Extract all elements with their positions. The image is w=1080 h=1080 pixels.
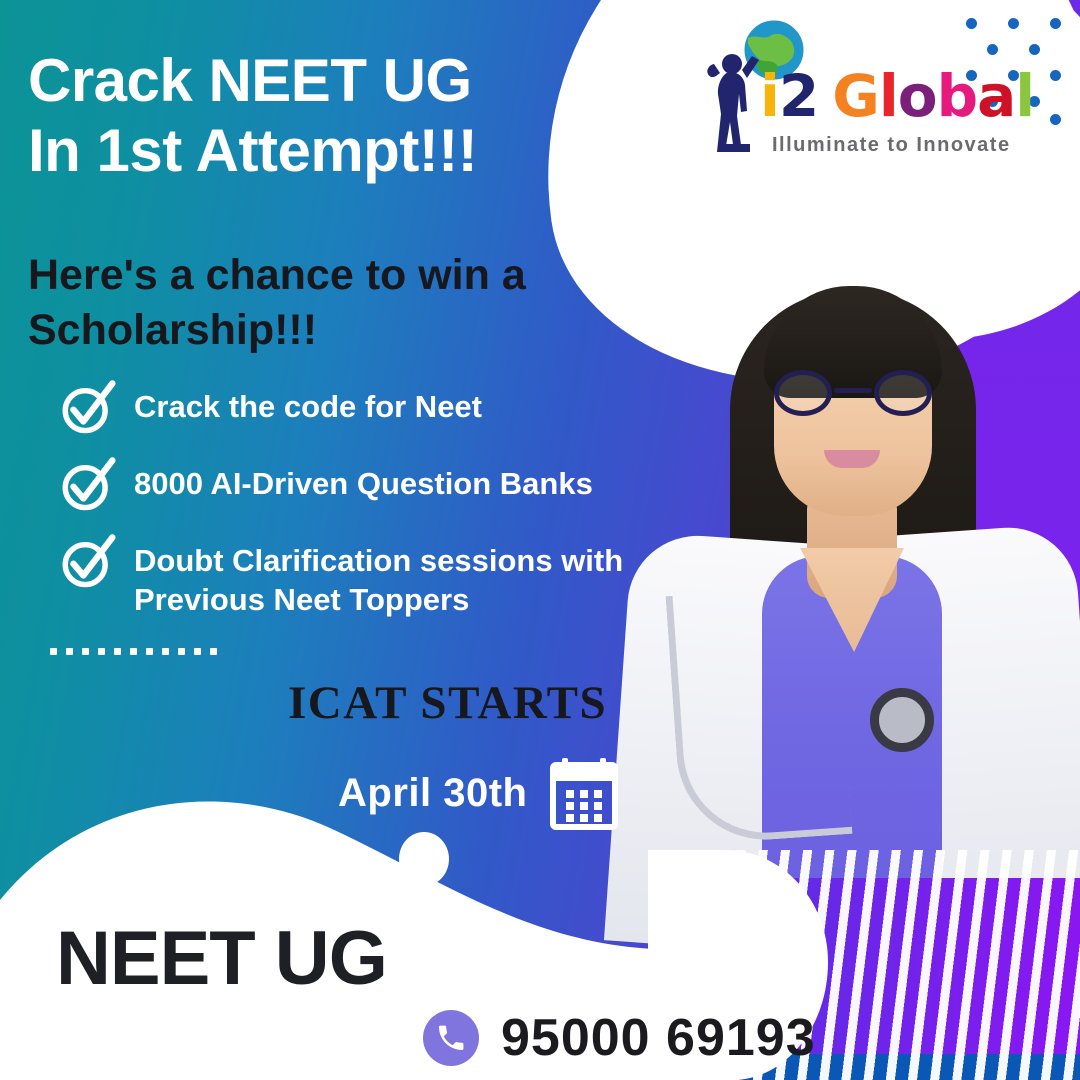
phone-badge[interactable] — [423, 1010, 479, 1066]
phone-icon — [435, 1022, 467, 1054]
list-item-label: Crack the code for Neet — [134, 382, 482, 427]
logo-letter-2: 2 — [779, 62, 818, 130]
list-item: Doubt Clarification sessions with Previo… — [58, 536, 718, 620]
brand-wordmark: i2Global — [760, 62, 1034, 130]
logo-letter-G: G — [832, 62, 879, 130]
subheadline-line-1: Here's a chance to win a — [28, 251, 526, 299]
exam-label: NEET UG — [56, 915, 387, 1002]
logo-letter-l2: l — [1015, 62, 1034, 130]
page-title: Crack NEET UG In 1st Attempt!!! — [28, 46, 648, 185]
headline-line-1: Crack NEET UG — [28, 47, 472, 114]
icat-date-row: April 30th — [338, 756, 619, 830]
icat-date-label: April 30th — [338, 771, 527, 816]
logo-letter-o: o — [898, 62, 937, 130]
brand-tagline: Illuminate to Innovate — [772, 134, 1011, 157]
list-item: 8000 AI-Driven Question Banks — [58, 459, 718, 513]
feature-list: Crack the code for Neet 8000 AI-Driven Q… — [58, 382, 718, 643]
phone-number[interactable]: 95000 69193 — [501, 1008, 816, 1068]
list-item-label: 8000 AI-Driven Question Banks — [134, 459, 593, 504]
glasses-lens-right — [874, 370, 932, 416]
logo-letter-l1: l — [879, 62, 898, 130]
contact-row[interactable]: 95000 69193 — [423, 1008, 816, 1068]
decorative-circle — [399, 832, 449, 886]
subheadline-line-2: Scholarship!!! — [28, 306, 317, 354]
list-item-label: Doubt Clarification sessions with Previo… — [134, 536, 709, 620]
calendar-icon — [549, 756, 619, 830]
list-item: Crack the code for Neet — [58, 382, 718, 436]
brand-logo[interactable]: i2Global Illuminate to Innovate — [700, 12, 1050, 177]
logo-letter-a: a — [977, 62, 1015, 130]
icat-title: ICAT STARTS — [288, 676, 607, 730]
glasses-bridge — [834, 388, 872, 393]
check-circle-icon — [58, 532, 116, 590]
poster-canvas: Crack NEET UG In 1st Attempt!!! Here's a… — [0, 0, 1080, 1080]
check-circle-icon — [58, 455, 116, 513]
logo-letter-b: b — [937, 62, 978, 130]
logo-letter-i: i — [760, 62, 779, 130]
glasses-lens-left — [774, 370, 832, 416]
stethoscope-bell-icon — [870, 688, 934, 752]
check-circle-icon — [58, 378, 116, 436]
doctor-glasses-icon — [772, 370, 934, 416]
dotted-divider — [50, 648, 217, 655]
subheadline: Here's a chance to win a Scholarship!!! — [28, 248, 628, 358]
headline-line-2: In 1st Attempt!!! — [28, 116, 648, 186]
